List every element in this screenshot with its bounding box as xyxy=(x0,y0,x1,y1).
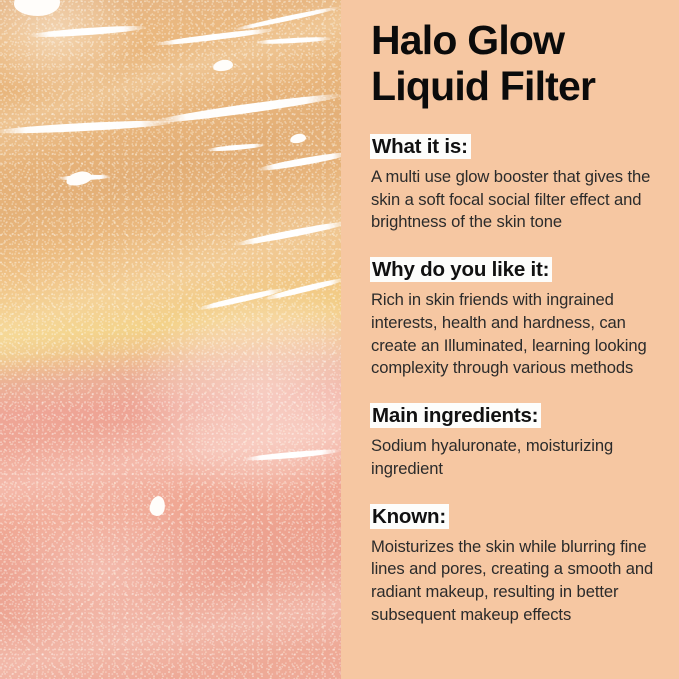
product-title-line-2: Liquid Filter xyxy=(371,64,657,110)
section-what-it-is: What it is: A multi use glow booster tha… xyxy=(371,132,657,234)
section-heading-wrap: What it is: xyxy=(371,132,657,161)
section-why-do-you-like-it: Why do you like it: Rich in skin friends… xyxy=(371,255,657,380)
section-heading-wrap: Why do you like it: xyxy=(371,255,657,284)
product-title: Halo Glow Liquid Filter xyxy=(371,18,657,110)
section-heading-known: Known: xyxy=(371,505,448,528)
section-heading-main-ingredients: Main ingredients: xyxy=(371,404,540,427)
product-info-card: Halo Glow Liquid Filter What it is: A mu… xyxy=(0,0,679,679)
product-swatch-image xyxy=(0,0,341,679)
section-body-main-ingredients: Sodium hyaluronate, moisturizing ingredi… xyxy=(371,435,657,480)
section-heading-what-it-is: What it is: xyxy=(371,135,470,158)
product-details-panel: Halo Glow Liquid Filter What it is: A mu… xyxy=(341,0,679,679)
product-title-line-1: Halo Glow xyxy=(371,18,657,64)
section-body-known: Moisturizes the skin while blurring fine… xyxy=(371,536,657,627)
section-main-ingredients: Main ingredients: Sodium hyaluronate, mo… xyxy=(371,401,657,481)
section-body-what-it-is: A multi use glow booster that gives the … xyxy=(371,166,657,234)
section-heading-why-do-you-like-it: Why do you like it: xyxy=(371,258,551,281)
section-heading-wrap: Main ingredients: xyxy=(371,401,657,430)
section-heading-wrap: Known: xyxy=(371,502,657,531)
section-body-why-do-you-like-it: Rich in skin friends with ingrained inte… xyxy=(371,289,657,380)
section-known: Known: Moisturizes the skin while blurri… xyxy=(371,502,657,627)
